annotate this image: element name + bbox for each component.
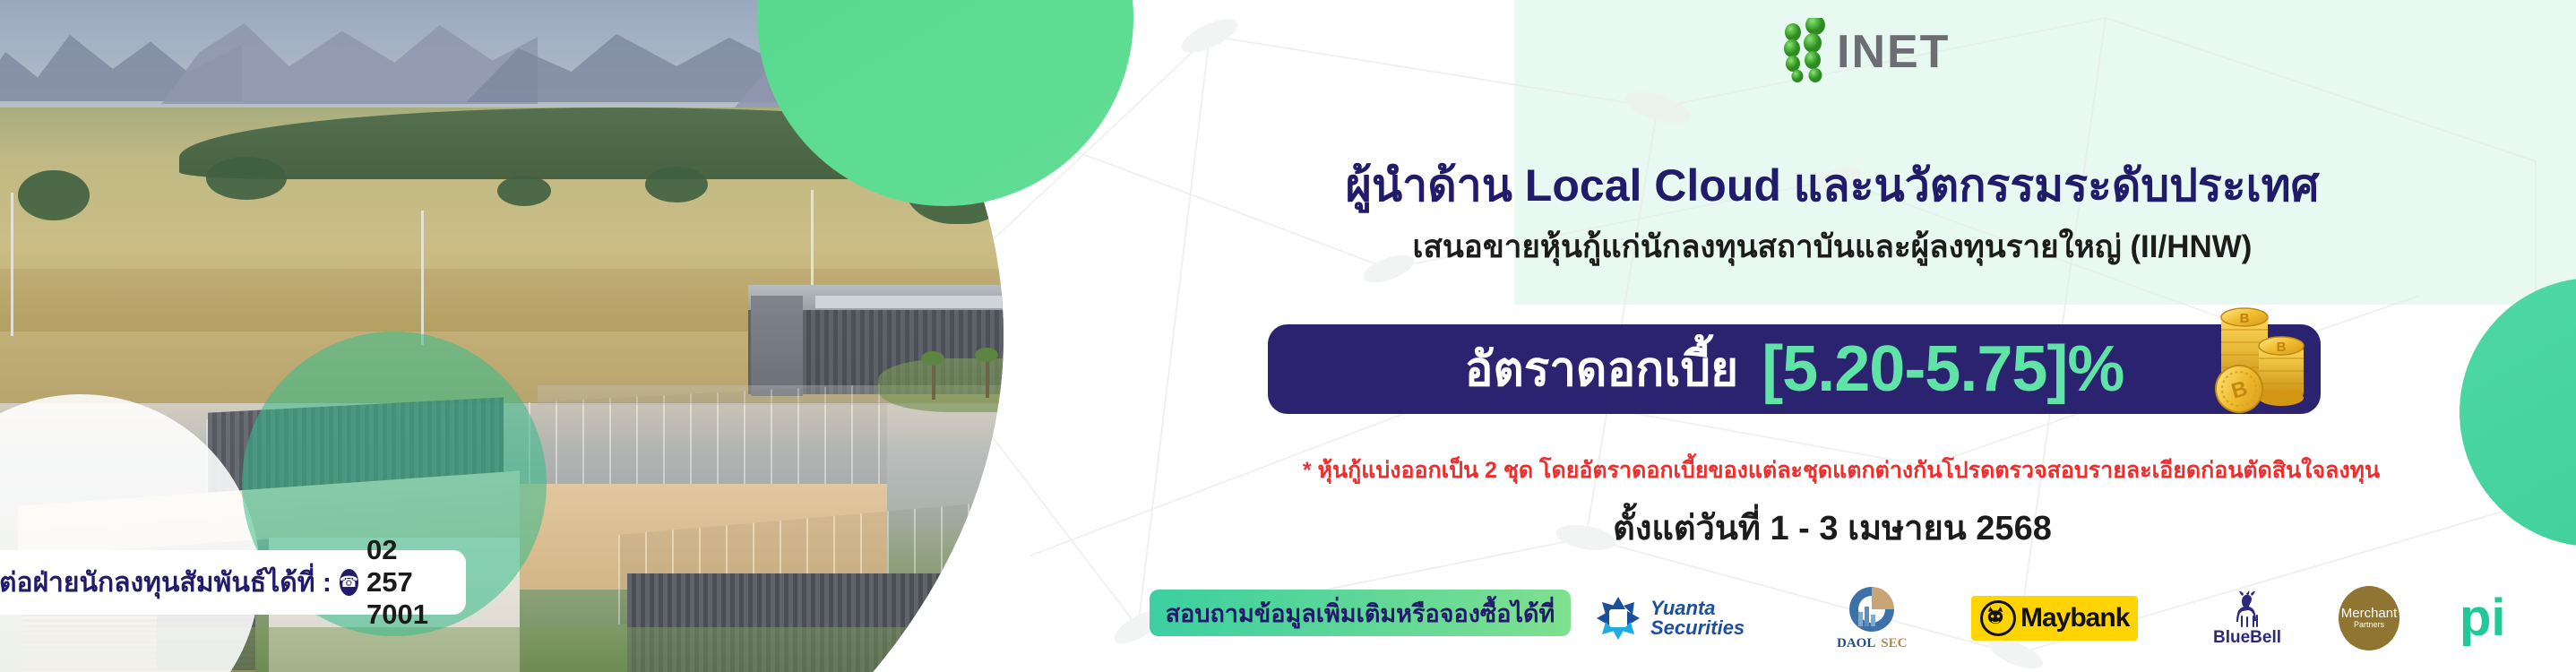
daol-line1: DAOL	[1837, 636, 1875, 650]
offering-dates: ตั้งแต่วันที่ 1 - 3 เมษายน 2568	[1196, 500, 2468, 555]
merchant-line1: Merchant	[2341, 607, 2398, 620]
investor-relations-contact-card: ติดต่อฝ่ายนักลงทุนสัมพันธ์ได้ที่ : ☎ 02 …	[0, 550, 466, 615]
partner-logo-bluebell[interactable]: BlueBell	[2213, 582, 2281, 654]
partner-logos: Yuanta Securities DAOL SEC	[1595, 582, 2545, 654]
merchant-partners-icon: Merchant Partners	[2339, 586, 2399, 650]
inet-logo: INET	[1779, 18, 1985, 82]
merchant-line2: Partners	[2354, 620, 2384, 630]
partner-logo-pi[interactable]: pi	[2460, 582, 2506, 654]
bluebell-deer-icon	[2229, 589, 2265, 628]
footnote-disclaimer: * หุ้นกู้แบ่งออกเป็น 2 ชุด โดยอัตราดอกเบ…	[1124, 452, 2558, 488]
maybank-tiger-icon	[1980, 600, 2016, 636]
page-title: ผู้นำด้าน Local Cloud และนวัตกรรมระดับปร…	[1196, 151, 2468, 221]
partner-logo-merchant-partners[interactable]: Merchant Partners	[2339, 582, 2399, 654]
bluebell-wordmark: BlueBell	[2213, 628, 2281, 648]
partner-logo-daol[interactable]: DAOL SEC	[1837, 582, 1907, 654]
inet-logo-text: INET	[1837, 29, 1950, 75]
inquiry-cta-label: สอบถามข้อมูลเพิ่มเติมหรือจองซื้อได้ที่	[1166, 594, 1555, 633]
contact-phone-number[interactable]: 02 257 7001	[366, 534, 443, 631]
pi-logo-icon: pi	[2460, 596, 2506, 641]
inet-bond-offering-banner: INET ผู้นำด้าน Local Cloud และนวัตกรรมระ…	[0, 0, 2576, 672]
yuanta-star-icon	[1595, 595, 1641, 642]
phone-icon: ☎	[340, 569, 358, 596]
interest-rate-value: [5.20-5.75]%	[1762, 332, 2124, 406]
daol-pie-icon	[1848, 585, 1896, 633]
yuanta-line2: Securities	[1650, 618, 1745, 638]
partner-logo-yuanta[interactable]: Yuanta Securities	[1595, 582, 1745, 654]
inquiry-cta-button[interactable]: สอบถามข้อมูลเพิ่มเติมหรือจองซื้อได้ที่	[1150, 590, 1571, 636]
svg-text:B: B	[2240, 311, 2250, 326]
page-subtitle: เสนอขายหุ้นกู้แก่นักลงทุนสถาบันและผู้ลงท…	[1196, 222, 2468, 271]
gold-bitcoin-coins-icon: B B B	[2200, 305, 2334, 426]
maybank-wordmark: Maybank	[2020, 603, 2129, 633]
daol-line2: SEC	[1881, 636, 1907, 650]
interest-rate-badge: อัตราดอกเบี้ย [5.20-5.75]%	[1268, 324, 2321, 414]
yuanta-line1: Yuanta	[1650, 599, 1745, 618]
svg-text:B: B	[2277, 340, 2287, 355]
contact-label: ติดต่อฝ่ายนักลงทุนสัมพันธ์ได้ที่ :	[0, 562, 332, 604]
partner-logo-maybank[interactable]: Maybank	[1971, 582, 2138, 654]
inet-leaf-dots-icon	[1779, 18, 1841, 82]
interest-rate-label: อัตราดอกเบี้ย	[1465, 332, 1739, 407]
